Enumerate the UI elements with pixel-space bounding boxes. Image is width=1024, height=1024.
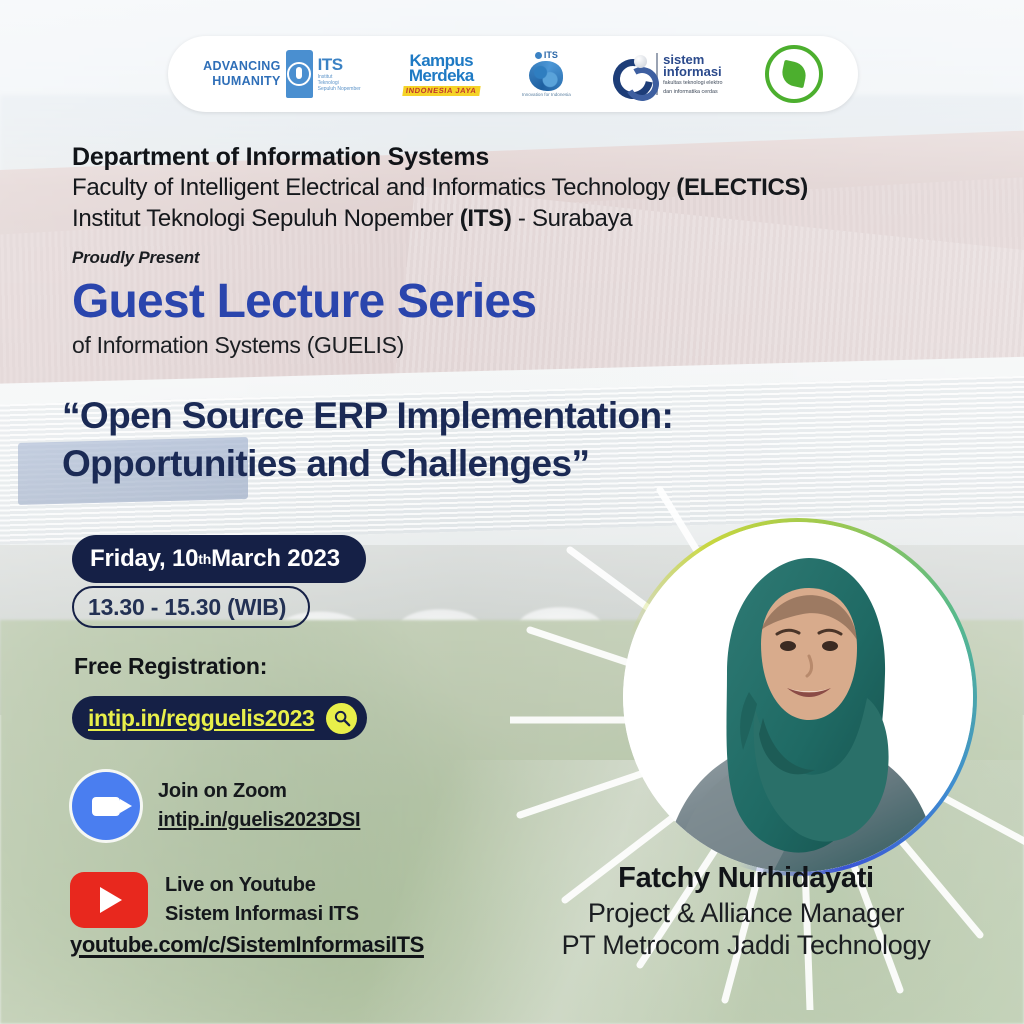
free-registration-label: Free Registration: (74, 653, 267, 680)
its-sub-3: Sepuluh Nopember (318, 86, 361, 92)
sistem-informasi-caption-1: fakultas teknologi elektro (663, 80, 722, 86)
kampus-merdeka-line-2: Merdeka (403, 67, 480, 84)
registration-url[interactable]: intip.in/regguelis2023 (88, 705, 314, 732)
sistem-informasi-line-2: informasi (663, 65, 722, 78)
search-icon[interactable] (326, 703, 357, 734)
time-text: 13.30 - 15.30 (WIB) (88, 594, 286, 621)
zoom-channel-row[interactable]: Join on Zoom intip.in/guelis2023DSI (72, 772, 360, 840)
youtube-channel-row[interactable]: Live on Youtube Sistem Informasi ITS (70, 872, 359, 928)
proudly-present-label: Proudly Present (72, 248, 992, 268)
speaker-photo (623, 522, 973, 872)
logo-sistem-informasi: sistem informasi fakultas teknologi elek… (613, 53, 722, 95)
its-innovation-swirl-icon (529, 61, 563, 91)
kampus-merdeka-ribbon: INDONESIA JAYA (402, 86, 480, 96)
logo-its-innovation: ITS Innovation for Indonesia (522, 51, 571, 98)
institute-text: Institut Teknologi Sepuluh Nopember (72, 205, 460, 232)
logo-kampus-merdeka: Kampus Merdeka INDONESIA JAYA (403, 52, 480, 96)
advancing-line-1: ADVANCING (203, 59, 280, 74)
faculty-acronym: (ELECTICS) (676, 174, 808, 201)
logo-bar: ADVANCING HUMANITY ITS Institut Teknolog… (168, 36, 858, 112)
logo-advancing-humanity-its: ADVANCING HUMANITY ITS Institut Teknolog… (203, 50, 361, 98)
its-wordmark: ITS Institut Teknologi Sepuluh Nopember (318, 56, 361, 92)
its-abbrev: ITS (318, 55, 343, 74)
institute-city: - Surabaya (512, 205, 633, 232)
advancing-humanity-text: ADVANCING HUMANITY (203, 59, 280, 89)
advancing-line-2: HUMANITY (203, 74, 280, 89)
series-subtitle: of Information Systems (GUELIS) (72, 332, 992, 359)
youtube-url[interactable]: youtube.com/c/SistemInformasiITS (70, 932, 424, 958)
youtube-channel-name: Sistem Informasi ITS (165, 903, 359, 926)
lecture-topic: “Open Source ERP Implementation: Opportu… (62, 392, 842, 488)
series-title: Guest Lecture Series (72, 274, 992, 330)
zoom-camera-icon (72, 772, 140, 840)
institute-line: Institut Teknologi Sepuluh Nopember (ITS… (72, 203, 992, 234)
its-innovation-caption: Innovation for Indonesia (522, 93, 571, 98)
lecture-topic-line-2: Opportunities and Challenges” (62, 440, 842, 488)
institute-acronym: (ITS) (460, 205, 512, 232)
its-shield-icon (286, 50, 313, 98)
zoom-title: Join on Zoom (158, 780, 360, 803)
sistem-informasi-caption-2: dan informatika cerdas (663, 89, 722, 95)
header-text-block: Department of Information Systems Facult… (72, 142, 992, 359)
speaker-name: Fatchy Nurhidayati (500, 862, 992, 895)
faculty-line: Faculty of Intelligent Electrical and In… (72, 172, 992, 203)
date-month-year: March 2023 (211, 545, 340, 573)
department-title: Department of Information Systems (72, 142, 992, 172)
time-badge: 13.30 - 15.30 (WIB) (72, 586, 310, 628)
youtube-title: Live on Youtube (165, 874, 359, 897)
lecture-topic-line-1: “Open Source ERP Implementation: (62, 392, 842, 440)
leaf-badge-icon (765, 45, 823, 103)
date-badge: Friday, 10th March 2023 (72, 535, 366, 583)
sistem-informasi-mark-icon (613, 55, 651, 93)
date-text: Friday, 10 (90, 545, 198, 573)
youtube-play-icon (70, 872, 148, 928)
speaker-organization: PT Metrocom Jaddi Technology (500, 930, 992, 961)
faculty-text: Faculty of Intelligent Electrical and In… (72, 174, 676, 201)
speaker-role: Project & Alliance Manager (500, 898, 992, 929)
its-innovation-label: ITS (544, 51, 558, 60)
poster-canvas: ADVANCING HUMANITY ITS Institut Teknolog… (0, 0, 1024, 1024)
registration-link-pill[interactable]: intip.in/regguelis2023 (72, 696, 367, 740)
its-innovation-dot-icon (535, 52, 542, 59)
zoom-url[interactable]: intip.in/guelis2023DSI (158, 809, 360, 832)
speaker-photo-ring (619, 518, 977, 876)
